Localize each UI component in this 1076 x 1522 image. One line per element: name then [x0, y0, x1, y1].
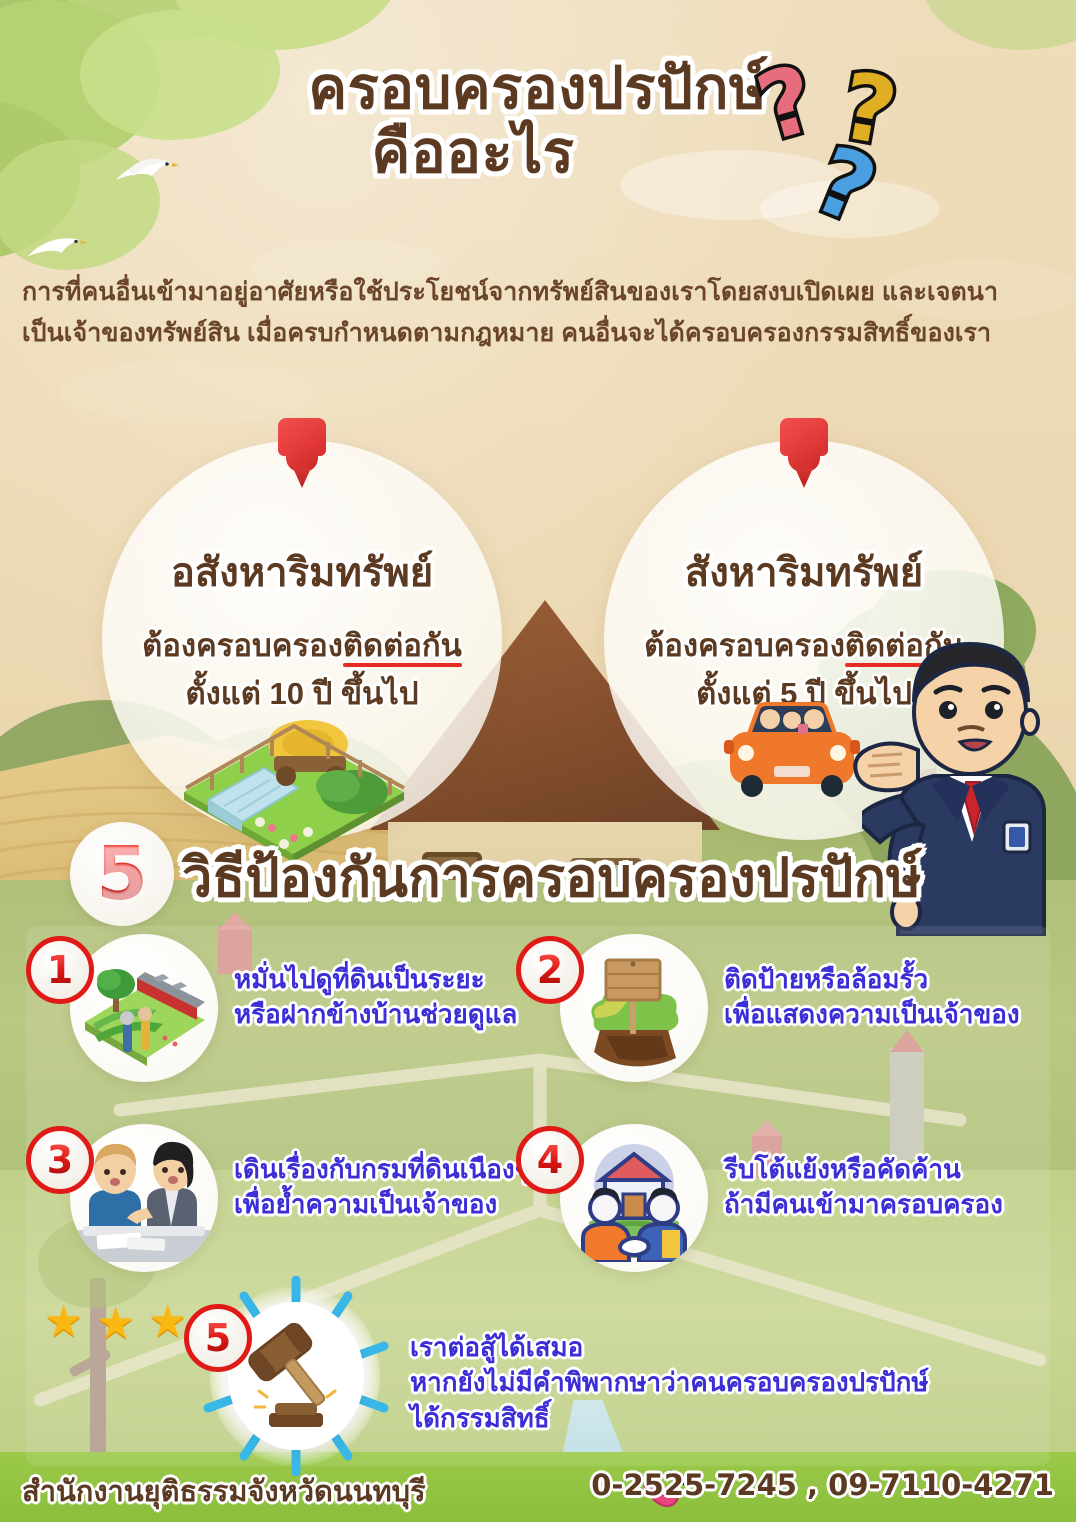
section-heading: 5 วิธีป้องกันการครอบครองปรปักษ์ — [60, 818, 1060, 933]
description-line-2: เป็นเจ้าของทรัพย์สิน เมื่อครบกำหนดตามกฎห… — [22, 313, 1062, 354]
tip-icon-circle — [560, 934, 708, 1082]
property-line1-immovable: ต้องครอบครองติดต่อกัน — [102, 620, 502, 670]
star-icon-1: ★ — [44, 1300, 83, 1344]
tip-number-5: 5 — [205, 1316, 231, 1360]
tip-line: หมั่นไปดูที่ดินเป็นระยะ — [234, 962, 517, 997]
question-mark-icon-red: ? — [748, 52, 825, 155]
tip-text-5: เราต่อสู้ได้เสมอ หากยังไม่มีคำพิพากษาว่า… — [410, 1330, 928, 1436]
tip-text-1: หมั่นไปดูที่ดินเป็นระยะ หรือฝากข้างบ้านช… — [234, 962, 517, 1033]
tip-icon-circle — [70, 1124, 218, 1272]
office-consult-icon — [75, 1134, 213, 1262]
land-inspection-icon — [79, 948, 209, 1068]
tip-line: เพื่อแสดงความเป็นเจ้าของ — [724, 997, 1020, 1032]
tip-line: ได้กรรมสิทธิ์ — [410, 1401, 928, 1436]
tip-number-4: 4 — [537, 1138, 563, 1182]
description-line-1: การที่คนอื่นเข้ามาอยู่อาศัยหรือใช้ประโยช… — [22, 272, 1062, 313]
tip-text-3: เดินเรื่องกับกรมที่ดินเนืองๆ เพื่อย้ำควา… — [234, 1152, 529, 1223]
tip-number-badge-4: 4 — [516, 1126, 584, 1194]
property-line1-underlined: ติดต่อกัน — [343, 628, 462, 663]
infographic-poster: ครอบครองปรปักษ์ คืออะไร ? ? ? การที่คนอื… — [0, 0, 1076, 1522]
property-title-immovable: อสังหาริมทรัพย์ — [102, 540, 502, 604]
signboard-icon — [572, 946, 696, 1070]
tip-number-badge-2: 2 — [516, 936, 584, 1004]
tip-item-2[interactable]: 2 ติดป้ายหรือล้อมรั้ว เพื่อแสดงความเป็นเ… — [516, 934, 1050, 1089]
tip-item-1[interactable]: 1 หมั่นไปดูที่ดินเป็นระยะ หรือฝากข้างบ้า… — [26, 934, 526, 1089]
tip-text-2: ติดป้ายหรือล้อมรั้ว เพื่อแสดงความเป็นเจ้… — [724, 962, 1020, 1033]
property-title-movable: สังหาริมทรัพย์ — [604, 540, 1004, 604]
section-heading-text: วิธีป้องกันการครอบครองปรปักษ์ — [182, 834, 922, 920]
tip-line: หรือฝากข้างบ้านช่วยดูแล — [234, 997, 517, 1032]
section-number: 5 — [96, 831, 148, 917]
tip-text-4: รีบโต้แย้งหรือคัดค้าน ถ้ามีคนเข้ามาครอบค… — [724, 1152, 1003, 1223]
question-mark-group: ? ? ? — [760, 58, 970, 238]
tip-number-badge-1: 1 — [26, 936, 94, 1004]
tips-panel: 1 หมั่นไปดูที่ดินเป็นระยะ หรือฝากข้างบ้า… — [26, 926, 1050, 1466]
dove-icon-2 — [24, 228, 92, 268]
red-pushpin-icon — [270, 418, 334, 488]
tip-line: รีบโต้แย้งหรือคัดค้าน — [724, 1152, 1003, 1187]
tip-icon-circle — [560, 1124, 708, 1272]
star-icon-3: ★ — [148, 1300, 187, 1344]
tip-line: เราต่อสู้ได้เสมอ — [410, 1330, 928, 1365]
tip-item-4[interactable]: 4 รีบโต้แย้งหรือคัดค้าน ถ้ามีคนเข้ามาครอ… — [516, 1124, 1050, 1279]
property-line1-prefix: ต้องครอบครอง — [644, 628, 845, 663]
tip-item-5[interactable]: 5 เราต่อสู้ได้เสมอ หากยังไม่มีคำพิพากษาว… — [166, 1294, 1050, 1464]
tip-line: ถ้ามีคนเข้ามาครอบครอง — [724, 1187, 1003, 1222]
gavel-icon — [241, 1317, 351, 1435]
tip-item-3[interactable]: 3 เดินเรื่องกับกรมที่ดินเนืองๆ เพื่อย้ำค… — [26, 1124, 526, 1279]
tip-number-badge-5: 5 — [184, 1304, 252, 1372]
tip-number-3: 3 — [47, 1138, 73, 1182]
section-number-badge: 5 — [70, 822, 174, 926]
tip-line: เพื่อย้ำความเป็นเจ้าของ — [234, 1187, 529, 1222]
tip-number-2: 2 — [537, 948, 563, 992]
officer-open-hand-icon — [848, 734, 922, 798]
property-dispute-icon — [567, 1134, 701, 1262]
red-pushpin-icon — [772, 418, 836, 488]
tip-number-1: 1 — [47, 948, 73, 992]
office-name: สำนักงานยุติธรรมจังหวัดนนทบุรี — [22, 1468, 426, 1514]
tip-line: เดินเรื่องกับกรมที่ดินเนืองๆ — [234, 1152, 529, 1187]
tip-number-badge-3: 3 — [26, 1126, 94, 1194]
phone-number: 0-2525-7245 , 09-7110-4271 — [591, 1468, 1054, 1502]
property-line1-prefix: ต้องครอบครอง — [142, 628, 343, 663]
tip-line: ติดป้ายหรือล้อมรั้ว — [724, 962, 1020, 997]
tip-icon-circle — [70, 934, 218, 1082]
star-icon-2: ★ — [96, 1302, 135, 1346]
description-block: การที่คนอื่นเข้ามาอยู่อาศัยหรือใช้ประโยช… — [22, 272, 1062, 353]
tip-line: หากยังไม่มีคำพิพากษาว่าคนครอบครองปรปักษ์ — [410, 1365, 928, 1400]
